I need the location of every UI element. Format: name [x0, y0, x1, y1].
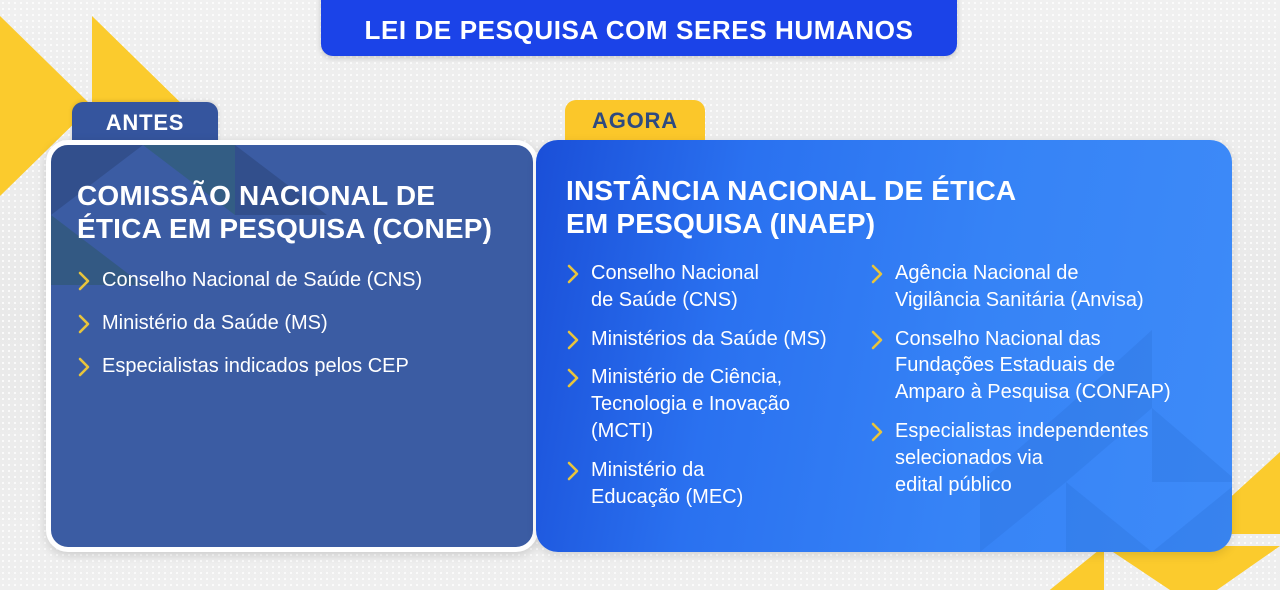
- list-item-label: Conselho Nacional de Saúde (CNS): [102, 267, 422, 294]
- list-item-label: Ministérios da Saúde (MS): [591, 326, 827, 353]
- card-agora-lists: Conselho Nacional de Saúde (CNS) Ministé…: [536, 240, 1232, 522]
- chevron-right-icon: [77, 356, 93, 378]
- chevron-right-icon: [566, 460, 582, 482]
- page-title-banner: LEI DE PESQUISA COM SERES HUMANOS: [321, 0, 957, 56]
- list-item-label: Ministério de Ciência, Tecnologia e Inov…: [591, 364, 790, 444]
- list-item: Ministério da Saúde (MS): [77, 310, 511, 337]
- chevron-right-icon: [566, 263, 582, 285]
- decor-triangle-top-left-1: [0, 16, 92, 106]
- card-antes: COMISSÃO NACIONAL DE ÉTICA EM PESQUISA (…: [46, 140, 538, 552]
- list-item: Conselho Nacional de Saúde (CNS): [566, 260, 850, 314]
- chevron-right-icon: [566, 329, 582, 351]
- chevron-right-icon: [870, 263, 886, 285]
- tab-agora[interactable]: AGORA: [565, 100, 705, 142]
- decor-triangle-bottom-right-4: [1194, 546, 1280, 590]
- list-item: Ministérios da Saúde (MS): [566, 326, 850, 353]
- list-item: Ministério de Ciência, Tecnologia e Inov…: [566, 364, 850, 444]
- tab-antes-label: ANTES: [106, 110, 185, 136]
- list-item: Agência Nacional de Vigilância Sanitária…: [870, 260, 1204, 314]
- card-antes-heading: COMISSÃO NACIONAL DE ÉTICA EM PESQUISA (…: [51, 145, 533, 245]
- list-item-label: Especialistas independentes selecionados…: [895, 418, 1149, 498]
- tab-antes[interactable]: ANTES: [72, 102, 218, 144]
- card-agora-heading: INSTÂNCIA NACIONAL DE ÉTICA EM PESQUISA …: [536, 140, 1232, 240]
- decor-triangle-top-left-3: [92, 16, 184, 106]
- tab-agora-label: AGORA: [592, 108, 678, 134]
- list-item: Ministério da Educação (MEC): [566, 457, 850, 511]
- list-item: Conselho Nacional das Fundações Estaduai…: [870, 326, 1204, 406]
- chevron-right-icon: [870, 329, 886, 351]
- card-agora-list-column-1: Conselho Nacional de Saúde (CNS) Ministé…: [536, 240, 854, 522]
- list-item-label: Ministério da Saúde (MS): [102, 310, 328, 337]
- card-antes-list: Conselho Nacional de Saúde (CNS) Ministé…: [51, 245, 533, 379]
- chevron-right-icon: [77, 270, 93, 292]
- decor-triangle-bottom-right-3: [1104, 546, 1194, 590]
- list-item-label: Agência Nacional de Vigilância Sanitária…: [895, 260, 1144, 314]
- chevron-right-icon: [566, 367, 582, 389]
- list-item-label: Ministério da Educação (MEC): [591, 457, 743, 511]
- list-item-label: Especialistas indicados pelos CEP: [102, 353, 409, 380]
- list-item-label: Conselho Nacional das Fundações Estaduai…: [895, 326, 1171, 406]
- list-item-label: Conselho Nacional de Saúde (CNS): [591, 260, 759, 314]
- decor-triangle-bottom-right-2: [1030, 546, 1104, 590]
- chevron-right-icon: [870, 421, 886, 443]
- list-item: Especialistas independentes selecionados…: [870, 418, 1204, 498]
- card-agora: INSTÂNCIA NACIONAL DE ÉTICA EM PESQUISA …: [536, 140, 1232, 552]
- page-title: LEI DE PESQUISA COM SERES HUMANOS: [364, 15, 913, 46]
- chevron-right-icon: [77, 313, 93, 335]
- card-agora-list-column-2: Agência Nacional de Vigilância Sanitária…: [854, 240, 1214, 522]
- list-item: Conselho Nacional de Saúde (CNS): [77, 267, 511, 294]
- list-item: Especialistas indicados pelos CEP: [77, 353, 511, 380]
